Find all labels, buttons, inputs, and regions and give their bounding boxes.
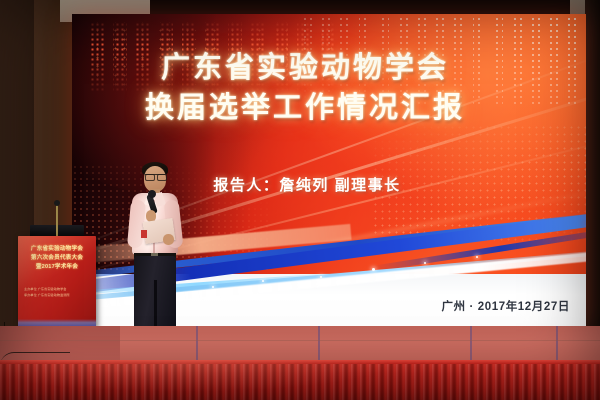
- microphone-head-icon: [148, 190, 156, 198]
- podium-microphone-icon: [54, 200, 60, 206]
- carpet-seam: [556, 326, 558, 362]
- screen-title-line-2: 换届选举工作情况汇报: [72, 88, 538, 128]
- podium-organizer-line-2: 承办单位 广东省实验动物监测所: [24, 292, 90, 297]
- podium-organizer-line-1: 主办单位 广东省实验动物学会: [24, 286, 90, 291]
- presenter-leg-gap: [154, 280, 157, 332]
- carpet-seam: [196, 326, 198, 362]
- screen-title-block: 广东省实验动物学会 换届选举工作情况汇报: [72, 48, 538, 128]
- podium-microphone-stem: [56, 204, 58, 238]
- presenter-badge: [141, 230, 147, 238]
- stage-skirt-sheen: [0, 360, 600, 400]
- wall-panel-right: [585, 0, 600, 340]
- carpet-seam: [470, 326, 472, 362]
- presenter-hand-right: [163, 234, 174, 245]
- glasses-lens-right: [157, 174, 167, 181]
- screen-title-line-1: 广东省实验动物学会: [72, 48, 538, 88]
- podium-text-line-2: 第六次会员代表大会: [22, 253, 92, 261]
- presenter-person: [124, 160, 186, 342]
- carpet-seam: [318, 326, 320, 362]
- podium: 广东省实验动物学会 第六次会员代表大会 暨2017学术年会 主办单位 广东省实验…: [18, 236, 96, 328]
- podium-text-line-3: 暨2017学术年会: [22, 262, 92, 270]
- screen-date-line: 广州 · 2017年12月27日: [442, 298, 571, 314]
- podium-text-line-1: 广东省实验动物学会: [22, 244, 92, 252]
- carpet-seam-horizontal: [0, 340, 600, 341]
- glasses-lens-left: [145, 174, 155, 181]
- conference-stage-photo: 广东省实验动物学会 换届选举工作情况汇报 报告人：詹纯列 副理事长 广州 · 2…: [0, 0, 600, 400]
